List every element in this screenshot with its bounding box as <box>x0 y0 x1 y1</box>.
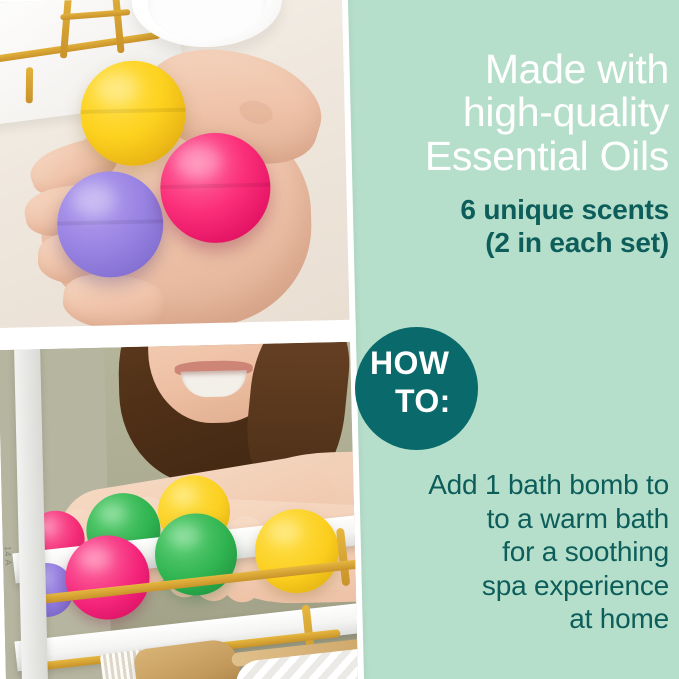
headline-line-1: Made with <box>425 48 669 91</box>
gold-rack-bar <box>26 67 33 103</box>
subhead-line-1: 6 unique scents <box>460 194 669 226</box>
subhead-line-2: (2 in each set) <box>460 227 669 259</box>
content-column: Made with high-quality Essential Oils 6 … <box>356 0 679 679</box>
instruction-line-5: at home <box>369 602 669 636</box>
instruction-line-2: to a warm bath <box>369 502 669 536</box>
top-photo-scene <box>0 0 350 332</box>
edge-arrow-icon: ↓ <box>0 530 1 545</box>
subheading: 6 unique scents (2 in each set) <box>460 194 669 259</box>
headline-line-2: high-quality <box>425 91 669 134</box>
instruction-line-4: spa experience <box>369 569 669 603</box>
promo-canvas: ↓ 14 A Made with high-quality Essential … <box>0 0 679 679</box>
photo-woman-at-shelf <box>0 342 358 679</box>
instruction-line-3: for a soothing <box>369 535 669 569</box>
how-to-badge-line-2: TO: <box>395 385 451 417</box>
photo-stack: ↓ 14 A <box>0 0 364 679</box>
how-to-badge-line-1: HOW <box>370 347 449 379</box>
instructions-text: Add 1 bath bomb to to a warm bath for a … <box>369 468 669 636</box>
headline-line-3: Essential Oils <box>425 135 669 178</box>
how-to-badge: HOW TO: <box>355 327 478 450</box>
bottom-photo-scene <box>0 342 358 679</box>
photo-hands-holding-bath-bombs <box>0 0 350 332</box>
edge-mark-label: 14 A <box>0 546 15 642</box>
page-title: Made with high-quality Essential Oils <box>425 48 669 178</box>
instruction-line-1: Add 1 bath bomb to <box>369 468 669 502</box>
